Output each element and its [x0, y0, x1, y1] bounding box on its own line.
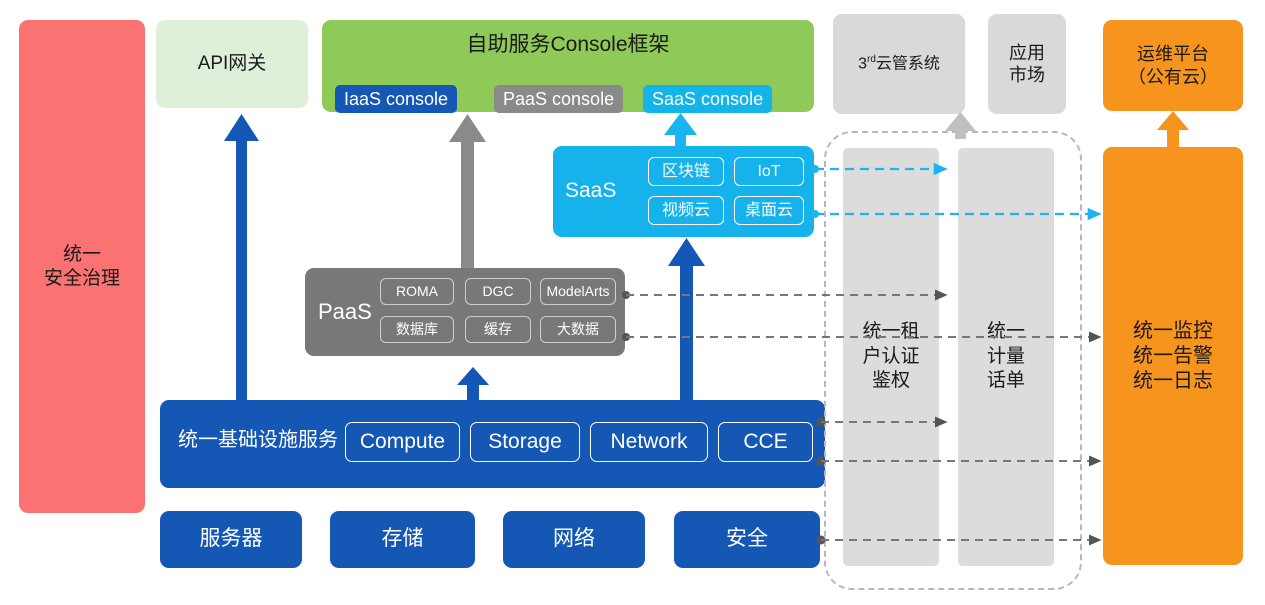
- security-governance-label: 统一 安全治理: [44, 243, 120, 291]
- paas-console-chip[interactable]: PaaS console: [494, 85, 623, 113]
- metering-line-2: 计量: [987, 345, 1025, 370]
- saas-chip-video-cloud[interactable]: 视频云: [648, 196, 724, 225]
- app-market-box[interactable]: 应用 市场: [988, 14, 1066, 114]
- paas-chip-bigdata[interactable]: 大数据: [540, 316, 616, 343]
- saas-block[interactable]: SaaS 区块链 IoT 视频云 桌面云: [553, 146, 814, 237]
- arrow-ops-bar-to-ops-top: [1157, 111, 1189, 147]
- saas-label: SaaS: [565, 178, 616, 204]
- resource-box-security[interactable]: 安全: [674, 511, 820, 568]
- metering-line-1: 统一: [987, 320, 1025, 345]
- infra-chip-network[interactable]: Network: [590, 422, 708, 462]
- metering-billing-label: 统一 计量 话单: [987, 320, 1025, 394]
- shared-service-metering-billing[interactable]: 统一 计量 话单: [958, 148, 1054, 566]
- tenant-auth-label: 统一租 户认证 鉴权: [862, 320, 919, 394]
- iaas-console-chip[interactable]: IaaS console: [335, 85, 457, 113]
- paas-block[interactable]: PaaS ROMA DGC ModelArts 数据库 缓存 大数据: [305, 268, 625, 356]
- third-party-cloud-mgmt-box[interactable]: 3rd云管系统: [833, 14, 965, 114]
- paas-chip-database[interactable]: 数据库: [380, 316, 454, 343]
- third-party-superscript: rd: [867, 54, 876, 65]
- console-framework-box[interactable]: 自助服务Console框架 IaaS console PaaS console …: [322, 20, 814, 112]
- app-market-line-1: 应用: [1009, 42, 1045, 65]
- saas-chip-desktop-cloud[interactable]: 桌面云: [734, 196, 804, 225]
- infra-chip-cce[interactable]: CCE: [718, 422, 813, 462]
- ops-platform-bar-label: 统一监控 统一告警 统一日志: [1133, 319, 1213, 394]
- saas-chip-iot[interactable]: IoT: [734, 157, 804, 186]
- metering-line-3: 话单: [987, 369, 1025, 394]
- security-line-2: 安全治理: [44, 267, 120, 291]
- console-framework-title: 自助服务Console框架: [322, 32, 814, 58]
- api-gateway-box[interactable]: API网关: [156, 20, 308, 108]
- app-market-label: 应用 市场: [1009, 42, 1045, 87]
- paas-label: PaaS: [318, 298, 372, 326]
- arrow-infra-to-api-gateway: [224, 114, 259, 400]
- infra-chip-compute[interactable]: Compute: [345, 422, 460, 462]
- paas-chip-dgc[interactable]: DGC: [465, 278, 531, 305]
- resource-box-server[interactable]: 服务器: [160, 511, 302, 568]
- third-party-label: 3rd云管系统: [858, 54, 940, 74]
- unified-infrastructure-label: 统一基础设施服务: [178, 428, 338, 453]
- third-party-prefix: 3: [858, 55, 867, 72]
- saas-chip-blockchain[interactable]: 区块链: [648, 157, 724, 186]
- ops-top-line-1: 运维平台: [1128, 43, 1218, 66]
- app-market-line-2: 市场: [1009, 64, 1045, 87]
- resource-box-storage[interactable]: 存储: [330, 511, 475, 568]
- ops-bar-line-2: 统一告警: [1133, 344, 1213, 369]
- arrow-paas-to-console: [449, 114, 486, 268]
- resource-box-network[interactable]: 网络: [503, 511, 645, 568]
- paas-chip-modelarts[interactable]: ModelArts: [540, 278, 616, 305]
- third-party-suffix: 云管系统: [876, 55, 940, 72]
- ops-bar-line-1: 统一监控: [1133, 319, 1213, 344]
- ops-platform-top-label: 运维平台 （公有云）: [1128, 43, 1218, 88]
- security-governance-pillar[interactable]: 统一 安全治理: [19, 20, 145, 513]
- ops-platform-bar[interactable]: 统一监控 统一告警 统一日志: [1103, 147, 1243, 565]
- paas-chip-roma[interactable]: ROMA: [380, 278, 454, 305]
- unified-infrastructure-bar[interactable]: 统一基础设施服务 Compute Storage Network CCE: [160, 400, 825, 488]
- arrow-saas-to-console: [664, 113, 697, 147]
- tenant-auth-line-3: 鉴权: [862, 369, 919, 394]
- tenant-auth-line-2: 户认证: [862, 345, 919, 370]
- saas-console-chip[interactable]: SaaS console: [643, 85, 772, 113]
- ops-bar-line-3: 统一日志: [1133, 369, 1213, 394]
- ops-platform-top-box[interactable]: 运维平台 （公有云）: [1103, 20, 1243, 111]
- security-line-1: 统一: [44, 243, 120, 267]
- paas-chip-cache[interactable]: 缓存: [465, 316, 531, 343]
- ops-top-line-2: （公有云）: [1128, 66, 1218, 89]
- architecture-diagram: 统一 安全治理 API网关 自助服务Console框架 IaaS console…: [0, 0, 1265, 605]
- tenant-auth-line-1: 统一租: [862, 320, 919, 345]
- arrow-infra-to-saas: [668, 238, 705, 400]
- shared-service-tenant-auth[interactable]: 统一租 户认证 鉴权: [843, 148, 939, 566]
- api-gateway-label: API网关: [198, 52, 267, 76]
- arrow-infra-to-paas: [457, 367, 489, 400]
- infra-chip-storage[interactable]: Storage: [470, 422, 580, 462]
